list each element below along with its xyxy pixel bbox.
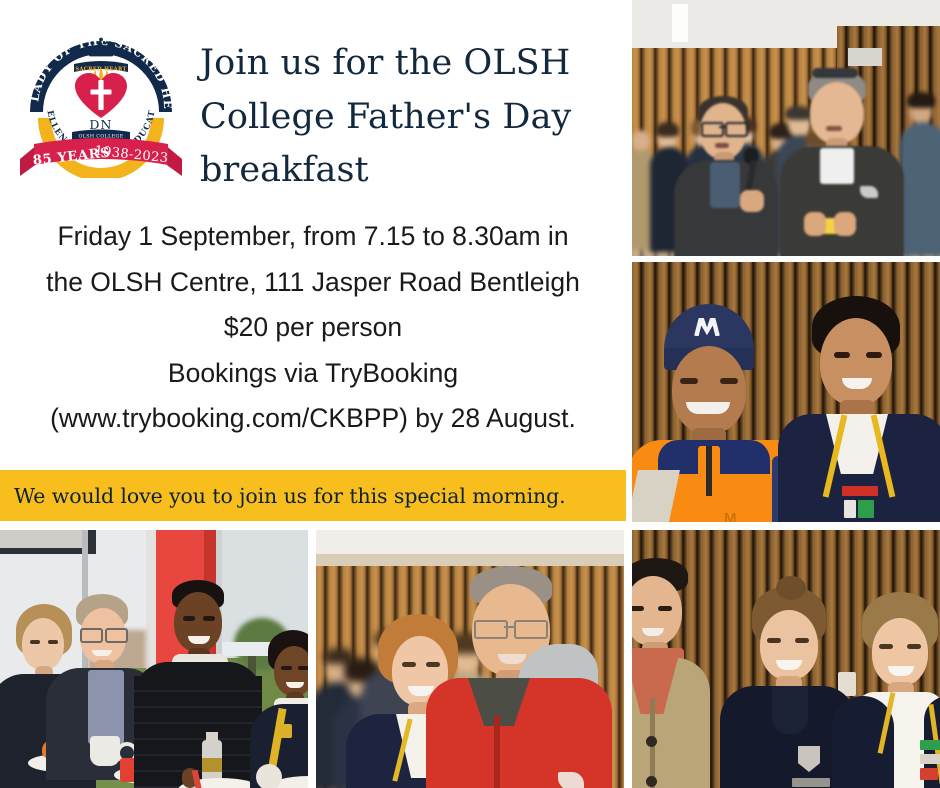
photo-man-with-two-students <box>632 530 940 788</box>
page-title: Join us for the OLSH College Father's Da… <box>200 37 620 197</box>
poster-canvas: OUR LADY OF THE SACRED HEART SACRED HEAR… <box>0 0 940 788</box>
photo-man-in-hi-vis-with-student: M <box>632 262 940 522</box>
event-detail-line-4: Bookings via TryBooking <box>0 351 626 397</box>
photo-student-with-father-red-jacket <box>316 530 624 788</box>
olsh-college-crest-logo: OUR LADY OF THE SACRED HEART SACRED HEAR… <box>12 8 190 178</box>
event-detail-line-2: the OLSH Centre, 111 Jasper Road Bentlei… <box>0 260 626 306</box>
event-details-block: Friday 1 September, from 7.15 to 8.30am … <box>0 214 626 442</box>
photo-guests-with-breakfast-plates <box>0 530 308 788</box>
event-detail-line-5: (www.trybooking.com/CKBPP) by 28 August. <box>0 396 626 442</box>
invitation-banner-text: We would love you to join us for this sp… <box>0 484 566 508</box>
event-detail-line-3: $20 per person <box>0 305 626 351</box>
photo-microphone-speakers <box>632 0 940 256</box>
event-detail-line-1: Friday 1 September, from 7.15 to 8.30am … <box>0 214 626 260</box>
invitation-banner: We would love you to join us for this sp… <box>0 470 626 521</box>
left-content-column: OUR LADY OF THE SACRED HEART SACRED HEAR… <box>0 0 626 521</box>
